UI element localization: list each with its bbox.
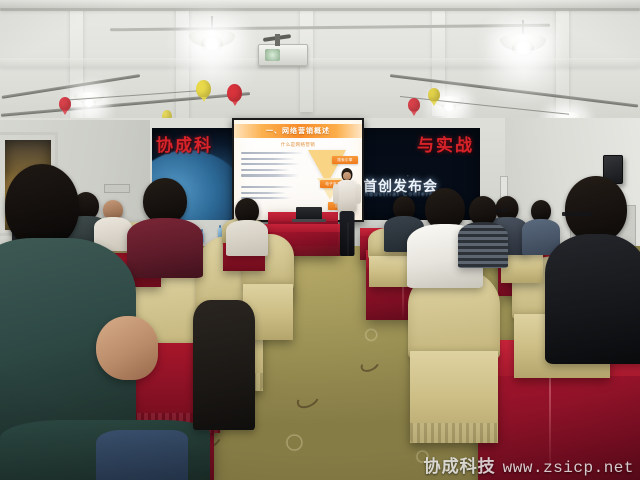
pendant-lamp — [74, 92, 104, 110]
slide-text-line — [241, 186, 294, 188]
laptop-icon — [296, 207, 322, 219]
projector-mount — [275, 34, 280, 46]
pendant-lamp — [189, 30, 235, 56]
slide-text-line — [241, 169, 290, 171]
attendee — [228, 198, 266, 250]
pendant-lamp — [500, 34, 546, 60]
attendee-body — [458, 222, 508, 268]
attendee — [524, 200, 558, 250]
attendee-body — [193, 300, 255, 430]
lamp-bulb — [512, 40, 534, 56]
attendee — [460, 196, 506, 262]
ceiling-conduit — [0, 8, 640, 11]
chair-ruffle — [410, 423, 498, 443]
watermark-company: 协成科技 — [424, 452, 496, 477]
watermark-url: www.zsicp.net — [503, 459, 634, 477]
banner-title-right: 与实战 — [417, 131, 474, 156]
chair-skirt — [369, 256, 409, 287]
attendee-jeans — [96, 430, 188, 480]
attendee — [134, 178, 196, 270]
slide-text-line — [241, 192, 286, 194]
slide-body-text — [241, 152, 307, 180]
presenter-torso — [338, 180, 357, 212]
slide-text-line — [241, 152, 304, 154]
balloon-red — [408, 98, 420, 112]
lamp-bulb — [442, 102, 456, 112]
presenter-legs — [340, 211, 355, 256]
slide-header-text: 一、网络营销概述 — [266, 126, 330, 136]
slide-header-bar: 一、网络营销概述 — [234, 124, 362, 138]
ceiling-rail — [390, 74, 639, 107]
presenter-arm-right — [355, 184, 361, 204]
ceiling-projector — [258, 44, 308, 66]
slide-text-line — [241, 174, 299, 176]
attendee-body — [545, 234, 640, 364]
slide-text-line — [241, 163, 300, 165]
slide-text-line — [241, 158, 295, 160]
chair-skirt — [410, 351, 498, 444]
presenter-face — [343, 172, 351, 180]
lamp-bulb — [201, 36, 223, 52]
projector-lens — [265, 49, 280, 61]
attendee-arm — [96, 316, 158, 380]
lamp-bulb — [82, 98, 96, 108]
attendee-head — [565, 176, 627, 242]
attendee-head — [5, 164, 79, 248]
table-top — [262, 224, 340, 232]
balloon-red — [59, 97, 71, 111]
presenter-arm-left — [333, 184, 339, 204]
balloon-yellow — [428, 88, 440, 102]
watermark: 协成科技 www.zsicp.net — [424, 452, 634, 477]
slide-subtitle: 什么是网络营销 — [234, 142, 362, 148]
conference-room-photo: 协成科 与实战 下首创发布会 Hi Industrial Conference … — [0, 0, 640, 480]
attendee-body — [226, 220, 268, 256]
glasses-icon — [562, 212, 592, 216]
banner-title-left: 协成科 — [156, 131, 213, 156]
attendee-behind-chair — [196, 300, 252, 430]
attendee-foreground-right — [554, 176, 638, 356]
balloon-red — [227, 84, 242, 102]
banquet-chair — [408, 268, 500, 440]
slide-callout: 搜索引擎 — [332, 156, 358, 164]
balloon-yellow — [196, 80, 211, 98]
